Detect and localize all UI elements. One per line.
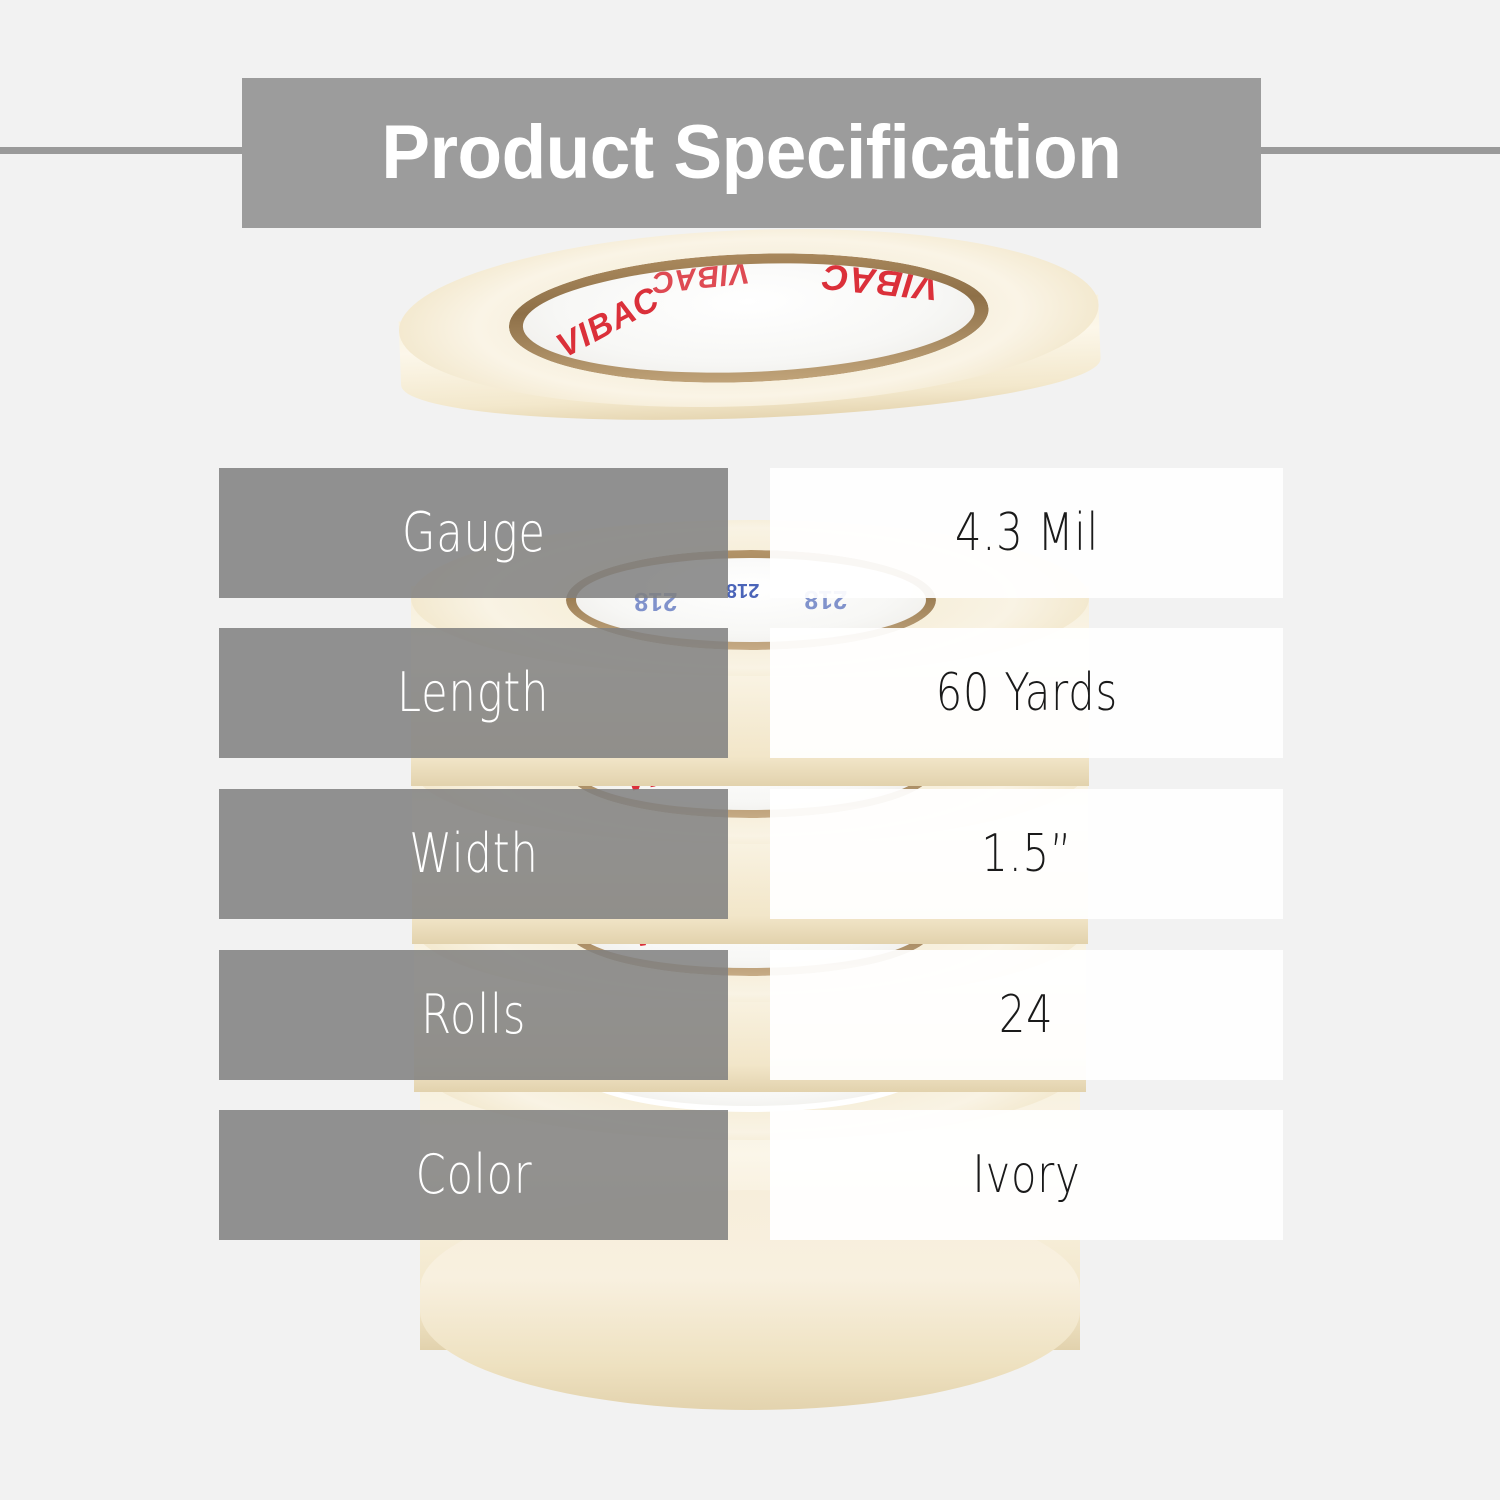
spec-label-color: Color [219, 1110, 728, 1240]
spec-value-length: 60 Yards [770, 628, 1283, 758]
spec-label-rolls: Rolls [219, 950, 728, 1080]
spec-label-length: Length [219, 628, 728, 758]
specification-table: Gauge 4.3 Mil Length 60 Yards Width 1.5” [0, 0, 1500, 1500]
table-row: Width 1.5” [219, 789, 1283, 919]
spec-value-width: 1.5” [770, 789, 1283, 919]
spec-value-color: Ivory [770, 1110, 1283, 1240]
table-row: Rolls 24 [219, 950, 1283, 1080]
spec-value-text: Ivory [972, 1149, 1080, 1201]
table-row: Length 60 Yards [219, 628, 1283, 758]
spec-value-rolls: 24 [770, 950, 1283, 1080]
spec-value-text: 24 [999, 989, 1054, 1041]
product-specification-graphic: VIBAC VIBAC VIBAC VIBAC [0, 0, 1500, 1500]
spec-label-gauge: Gauge [219, 468, 728, 598]
spec-label-text: Rolls [421, 988, 526, 1042]
spec-label-width: Width [219, 789, 728, 919]
spec-label-text: Width [409, 827, 539, 881]
spec-label-text: Gauge [402, 506, 546, 560]
spec-value-gauge: 4.3 Mil [770, 468, 1283, 598]
spec-value-text: 4.3 Mil [955, 507, 1099, 559]
spec-label-text: Length [397, 666, 549, 720]
spec-label-text: Color [415, 1148, 532, 1202]
spec-value-text: 1.5” [981, 828, 1072, 880]
table-row: Gauge 4.3 Mil [219, 468, 1283, 598]
spec-value-text: 60 Yards [935, 667, 1117, 719]
table-row: Color Ivory [219, 1110, 1283, 1240]
